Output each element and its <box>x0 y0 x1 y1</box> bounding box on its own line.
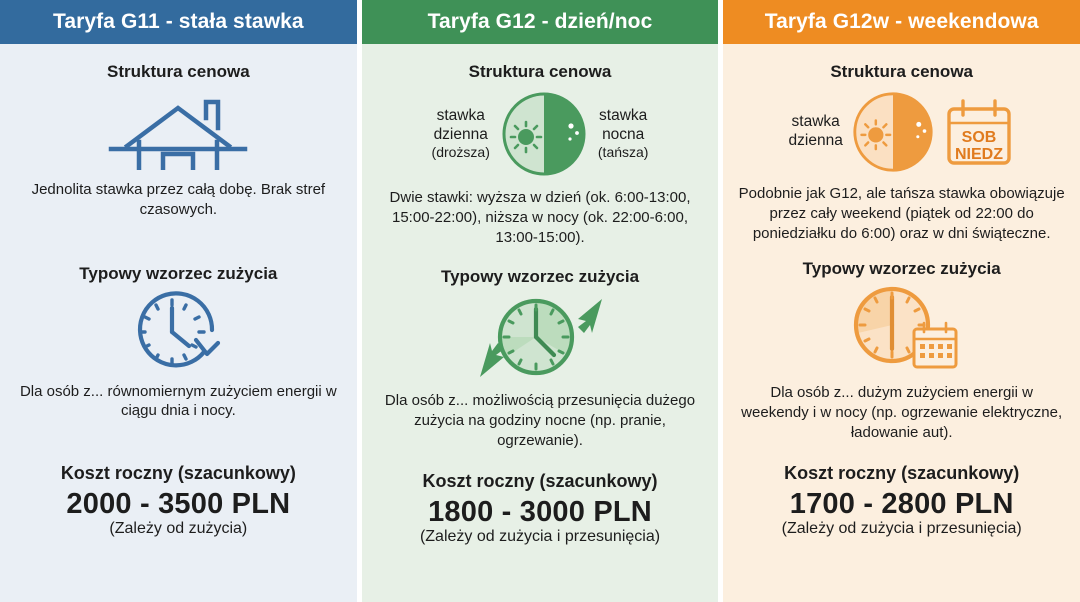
usage-pattern-title-g11: Typowy wzorzec zużycia <box>79 264 277 284</box>
house-icon <box>103 92 253 170</box>
night-rate-line2: nocna <box>598 126 649 145</box>
day-rate-line2-g12w: dzienna <box>789 132 843 151</box>
clock-shift-icon-wrap <box>474 289 606 381</box>
usage-pattern-desc-g12w: Dla osób z... dużym zużyciem energii w w… <box>737 383 1066 442</box>
day-rate-label-g12w: stawka dzienna <box>789 113 843 150</box>
annual-cost-value-g12: 1800 - 3000 PLN <box>428 496 652 529</box>
usage-pattern-desc-g12: Dla osób z... możliwością przesunięcia d… <box>376 391 705 450</box>
annual-cost-value-g12w: 1700 - 2800 PLN <box>790 488 1014 521</box>
day-night-circle-icon <box>500 90 588 178</box>
price-structure-desc-g12w: Podobnie jak G12, ale tańsza stawka obow… <box>737 184 1066 243</box>
tariff-column-g12w: Taryfa G12w - weekendowa Struktura cenow… <box>723 0 1080 602</box>
tariff-header-g12w: Taryfa G12w - weekendowa <box>723 0 1080 44</box>
price-structure-title-g11: Struktura cenowa <box>107 62 250 82</box>
house-icon-wrap <box>103 92 253 170</box>
day-rate-line1: stawka <box>432 107 490 126</box>
annual-cost-title-g11: Koszt roczny (szacunkowy) <box>61 463 296 484</box>
day-rate-paren: (droższa) <box>432 144 490 161</box>
day-rate-line1-g12w: stawka <box>789 113 843 132</box>
clock-arrow-icon <box>126 288 230 372</box>
usage-pattern-title-g12w: Typowy wzorzec zużycia <box>803 259 1001 279</box>
calendar-line1: SOB <box>961 129 996 146</box>
tariff-column-g11: Taryfa G11 - stała stawka Struktura ceno… <box>0 0 357 602</box>
annual-cost-note-g11: (Zależy od zużycia) <box>109 520 247 538</box>
tariff-body-g11: Struktura cenowa Jednolita stawka przez … <box>0 44 357 602</box>
tariff-column-g12: Taryfa G12 - dzień/noc Struktura cenowa … <box>362 0 719 602</box>
price-structure-desc-g12: Dwie stawki: wyższa w dzień (ok. 6:00-13… <box>376 188 705 247</box>
price-structure-title-g12w: Struktura cenowa <box>830 62 973 82</box>
day-rate-line2: dzienna <box>432 126 490 145</box>
night-rate-label-g12: stawka nocna (tańsza) <box>598 107 649 161</box>
weekend-calendar-icon: SOB NIEDZ <box>943 95 1015 169</box>
clock-calendar-icon <box>842 281 962 373</box>
price-structure-title-g12: Struktura cenowa <box>469 62 612 82</box>
usage-pattern-title-g12: Typowy wzorzec zużycia <box>441 267 639 287</box>
night-rate-line1: stawka <box>598 107 649 126</box>
annual-cost-note-g12w: (Zależy od zużycia i przesunięcia) <box>782 520 1022 538</box>
tariff-comparison-board: Taryfa G11 - stała stawka Struktura ceno… <box>0 0 1080 602</box>
tariff-header-g12: Taryfa G12 - dzień/noc <box>362 0 719 44</box>
clock-shift-arrows-icon <box>474 289 606 381</box>
tariff-body-g12w: Struktura cenowa stawka dzienna <box>723 44 1080 602</box>
annual-cost-title-g12w: Koszt roczny (szacunkowy) <box>784 463 1019 484</box>
day-night-row-g12w: stawka dzienna <box>789 90 1015 174</box>
annual-cost-value-g11: 2000 - 3500 PLN <box>66 488 290 521</box>
clock-arrow-icon-wrap <box>126 288 230 372</box>
sun-icon <box>511 122 541 152</box>
tariff-body-g12: Struktura cenowa stawka dzienna (droższa… <box>362 44 719 602</box>
mini-calendar-icon <box>914 323 956 367</box>
annual-cost-title-g12: Koszt roczny (szacunkowy) <box>422 471 657 492</box>
usage-pattern-desc-g11: Dla osób z... równomiernym zużyciem ener… <box>14 382 343 422</box>
day-rate-label-g12: stawka dzienna (droższa) <box>432 107 490 161</box>
arrow-top-right <box>578 299 602 333</box>
annual-cost-note-g12: (Zależy od zużycia i przesunięcia) <box>420 528 660 546</box>
arrow-bottom-left <box>480 343 504 377</box>
price-structure-desc-g11: Jednolita stawka przez całą dobę. Brak s… <box>14 180 343 220</box>
night-rate-paren: (tańsza) <box>598 144 649 161</box>
day-night-circle-icon <box>851 90 935 174</box>
sun-icon <box>861 121 890 150</box>
calendar-line2: NIEDZ <box>955 146 1003 163</box>
tariff-header-g11: Taryfa G11 - stała stawka <box>0 0 357 44</box>
clock-calendar-icon-wrap <box>842 281 962 373</box>
day-night-row-g12: stawka dzienna (droższa) <box>432 90 649 178</box>
